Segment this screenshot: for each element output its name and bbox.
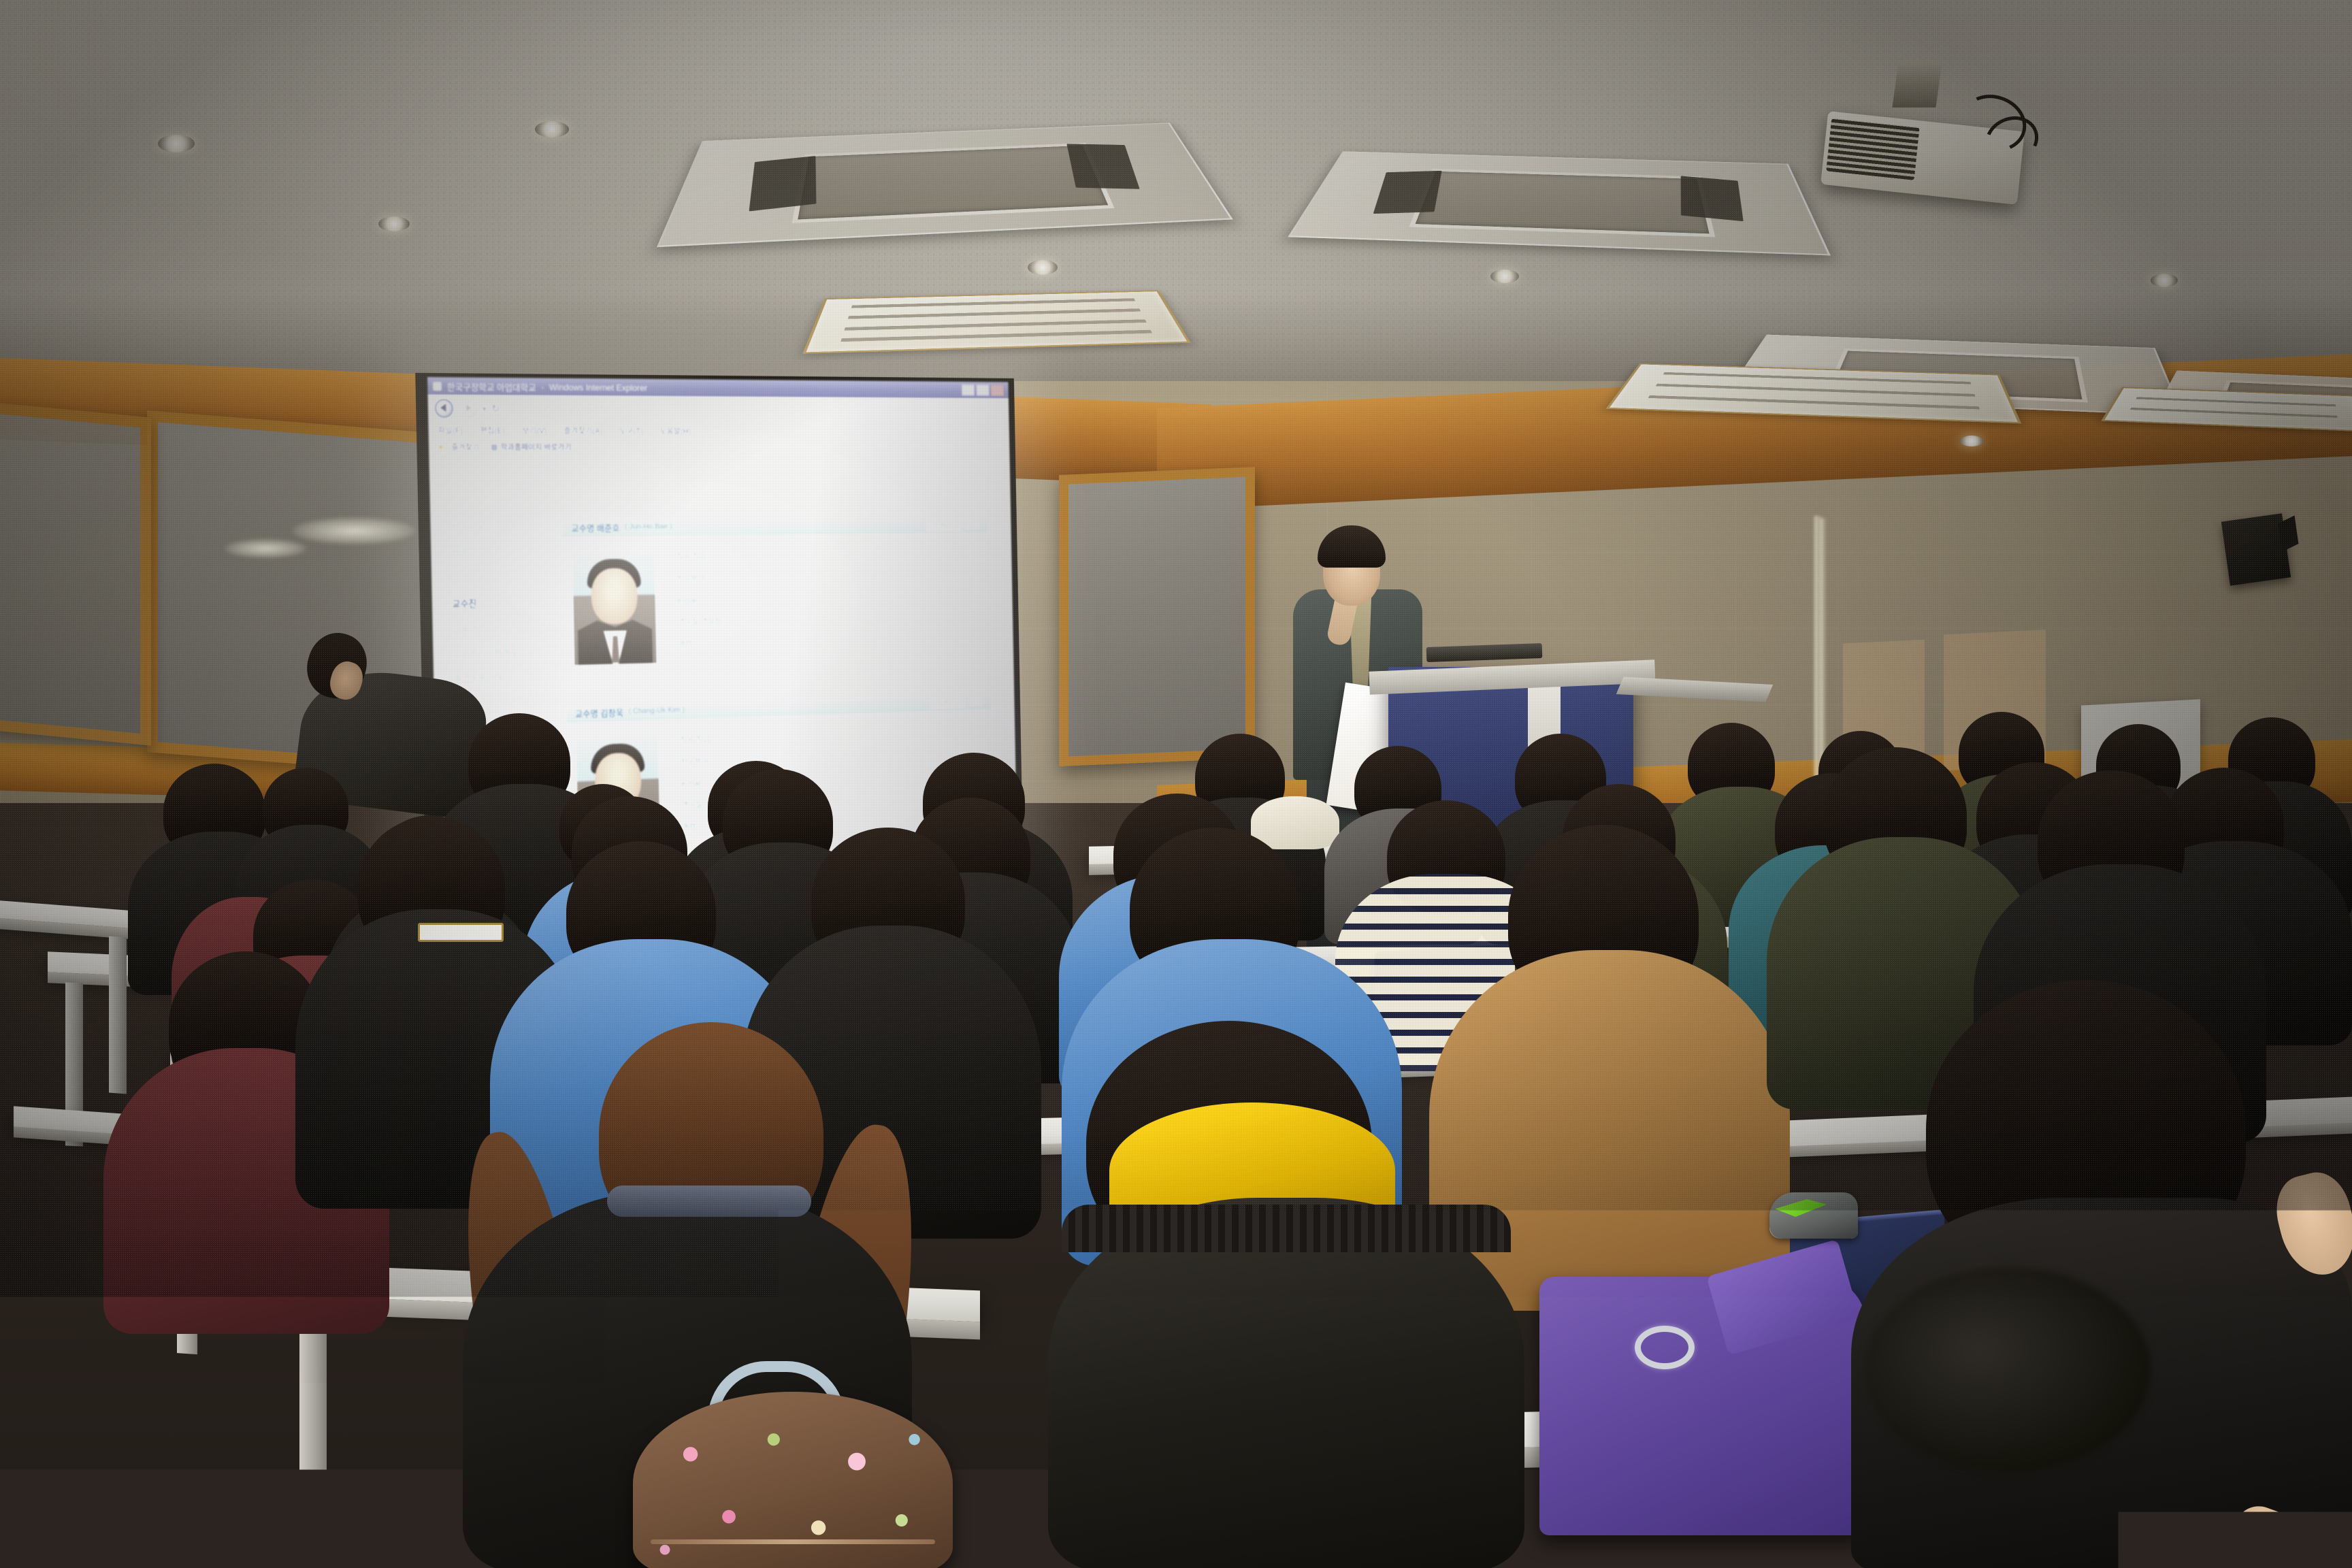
student-body-camel-coat bbox=[1429, 950, 1790, 1311]
favorite-link-label: 학과홈페이지 바로가기 bbox=[500, 442, 572, 453]
downlight-7 bbox=[1960, 436, 1983, 446]
title-separator: - bbox=[541, 382, 544, 392]
star-icon[interactable]: ★ bbox=[437, 442, 445, 453]
sidebar-item-4[interactable]: 교육과정 bbox=[453, 619, 558, 635]
floral-paisley-backpack bbox=[633, 1392, 953, 1568]
menu-item-file[interactable]: 파일(F) bbox=[438, 425, 463, 436]
jacket-collar bbox=[607, 1186, 811, 1217]
sidebar-item-2[interactable]: 교수 bbox=[451, 570, 557, 585]
menu-item-favorites[interactable]: 즐겨찾기(A) bbox=[563, 425, 602, 436]
faculty-field-row: 전공분야경영정보시스템 / 데이터베이스 bbox=[681, 745, 984, 768]
backpack-zipper bbox=[651, 1539, 935, 1544]
search-input[interactable]: Search 검색 bbox=[906, 403, 1003, 419]
favorite-link[interactable]: 학과홈페이지 바로가기 bbox=[486, 440, 577, 454]
menu-item-help[interactable]: 도움말(H) bbox=[659, 425, 691, 437]
whiteboard-glare bbox=[293, 517, 415, 544]
downlight-5 bbox=[1490, 269, 1519, 283]
faculty-fields-0: 직위/직급 전공분야 e-mail 연구실/연락처 경력 bbox=[676, 547, 982, 663]
menu-item-tools[interactable]: 도구(T) bbox=[619, 425, 643, 436]
back-arrow-icon[interactable] bbox=[434, 399, 453, 418]
faculty-name-ko-1: 교수명 김창욱 bbox=[575, 705, 623, 719]
faculty-card-actions-1[interactable]: 상세보기 bbox=[930, 693, 983, 708]
refresh-icon[interactable]: ↻ bbox=[491, 403, 500, 415]
faculty-expand-button-0[interactable] bbox=[965, 518, 979, 529]
faculty-field-row: 경력 bbox=[678, 632, 981, 650]
projector-vent bbox=[1826, 118, 1919, 180]
field-label-0-3: 연구실/연락처 bbox=[678, 615, 736, 627]
sidebar-item-3[interactable]: 교수진 bbox=[452, 595, 557, 610]
favorites-label[interactable]: 즐겨찾기 bbox=[451, 442, 480, 453]
sidebar-nav[interactable]: 학과소개 학과 교수 교수진 교육과정 교과목이수체계도 졸업논문안내 bbox=[451, 520, 559, 685]
whiteboard-center-left bbox=[1059, 467, 1255, 766]
favorites-bar[interactable]: ★ 즐겨찾기 학과홈페이지 바로가기 bbox=[429, 438, 1010, 457]
student-hood bbox=[1251, 796, 1339, 849]
projector-mount bbox=[1892, 63, 1942, 108]
ceiling-projector bbox=[1824, 102, 2028, 197]
sidebar-item-5[interactable]: 교과목이수체계도 bbox=[453, 644, 559, 659]
faculty-card-body-0: 직위/직급 전공분야 e-mail 연구실/연락처 경력 bbox=[562, 533, 990, 666]
sidebar-item-6[interactable]: 졸업논문안내 bbox=[453, 669, 559, 685]
lecture-hall-photo: 한국구장학교 아업대학교 - Windows Internet Explorer… bbox=[0, 0, 2352, 1568]
favorite-site-icon bbox=[491, 444, 497, 451]
address-bar[interactable]: http://www.xxx.ac.kr/dept/faculty.html bbox=[505, 401, 902, 419]
ie-app-icon bbox=[433, 382, 442, 391]
menu-item-view[interactable]: 보기(V) bbox=[522, 425, 547, 436]
sweater-ribbing bbox=[1062, 1205, 1511, 1252]
sidebar-item-1[interactable]: 학과 bbox=[451, 545, 557, 560]
fur-trim bbox=[1865, 1267, 2151, 1471]
forward-arrow-icon[interactable] bbox=[459, 399, 478, 418]
menu-item-edit[interactable]: 편집(E) bbox=[480, 425, 505, 436]
field-label-0-4: 경력 bbox=[678, 637, 736, 649]
foreground-center-sweater bbox=[1048, 1198, 1524, 1568]
light-panel-center bbox=[802, 290, 1191, 353]
wall-speaker-right bbox=[2221, 513, 2291, 586]
whiteboard-far-left bbox=[0, 399, 151, 745]
whiteboard-glare-2 bbox=[225, 539, 306, 558]
bag-buckle bbox=[1635, 1326, 1695, 1369]
sidebar-item-0[interactable]: 학과소개 bbox=[451, 520, 556, 534]
portrait-face bbox=[591, 568, 638, 624]
page-icon bbox=[510, 406, 517, 412]
ie-menu-bar[interactable]: 파일(F) 편집(E) 보기(V) 즐겨찾기(A) 도구(T) 도움말(H) bbox=[428, 422, 1009, 439]
faculty-name-rom-1: ( Chang-Uk Kim ) bbox=[628, 706, 685, 715]
faculty-portrait-0 bbox=[572, 551, 657, 666]
field-value-1-0: 부교수 bbox=[753, 731, 774, 742]
downlight-4 bbox=[1028, 260, 1058, 275]
faculty-field-row: 직위/직급 bbox=[676, 547, 980, 562]
green-gray-sneaker bbox=[1769, 1192, 1858, 1239]
chevron-down-icon[interactable]: ▾ bbox=[483, 404, 487, 413]
downlight-2 bbox=[535, 121, 569, 137]
field-label-0-0: 직위/직급 bbox=[676, 550, 734, 562]
window-title-suffix: Windows Internet Explorer bbox=[549, 382, 647, 393]
field-label-0-1: 전공분야 bbox=[677, 572, 735, 585]
downlight-6 bbox=[2151, 274, 2178, 287]
ie-navigation-bar[interactable]: ▾ ↻ http://www.xxx.ac.kr/dept/faculty.ht… bbox=[428, 395, 1009, 424]
downlight-3 bbox=[378, 216, 410, 231]
minimize-button[interactable] bbox=[962, 385, 975, 396]
field-label-1-1: 전공분야 bbox=[681, 755, 738, 768]
maximize-button[interactable] bbox=[976, 385, 989, 396]
faculty-detail-button-0[interactable]: 상세보기 bbox=[927, 517, 962, 531]
field-label-0-2: e-mail bbox=[677, 595, 735, 605]
faculty-field-row: 연구실/연락처 bbox=[678, 610, 981, 627]
jacket-logo-patch bbox=[418, 923, 504, 942]
faculty-card-0: 교수명 배준호 ( Jun-Ho Bae ) 상세보기 bbox=[562, 514, 990, 666]
faculty-detail-button-1[interactable]: 상세보기 bbox=[930, 694, 965, 708]
address-value: http://www.xxx.ac.kr/dept/faculty.html bbox=[520, 405, 636, 414]
faculty-name-rom-0: ( Jun-Ho Bae ) bbox=[625, 523, 672, 531]
faculty-expand-button-1[interactable] bbox=[968, 695, 983, 706]
faculty-card-actions-0[interactable]: 상세보기 bbox=[927, 517, 979, 531]
downlight-1 bbox=[158, 135, 195, 152]
close-button[interactable] bbox=[991, 385, 1004, 396]
window-title: 한국구장학교 아업대학교 bbox=[447, 380, 536, 393]
purple-shoulder-bag bbox=[1539, 1277, 1866, 1535]
faculty-name-ko-0: 교수명 배준호 bbox=[571, 521, 620, 534]
faculty-field-row: 직위/직급부교수 bbox=[680, 724, 983, 746]
site-top-nav[interactable] bbox=[916, 474, 995, 480]
field-label-1-0: 직위/직급 bbox=[680, 732, 738, 745]
faculty-field-row: e-mail bbox=[677, 591, 981, 605]
faculty-field-row: 전공분야 bbox=[677, 569, 981, 585]
window-controls[interactable] bbox=[962, 385, 1004, 396]
